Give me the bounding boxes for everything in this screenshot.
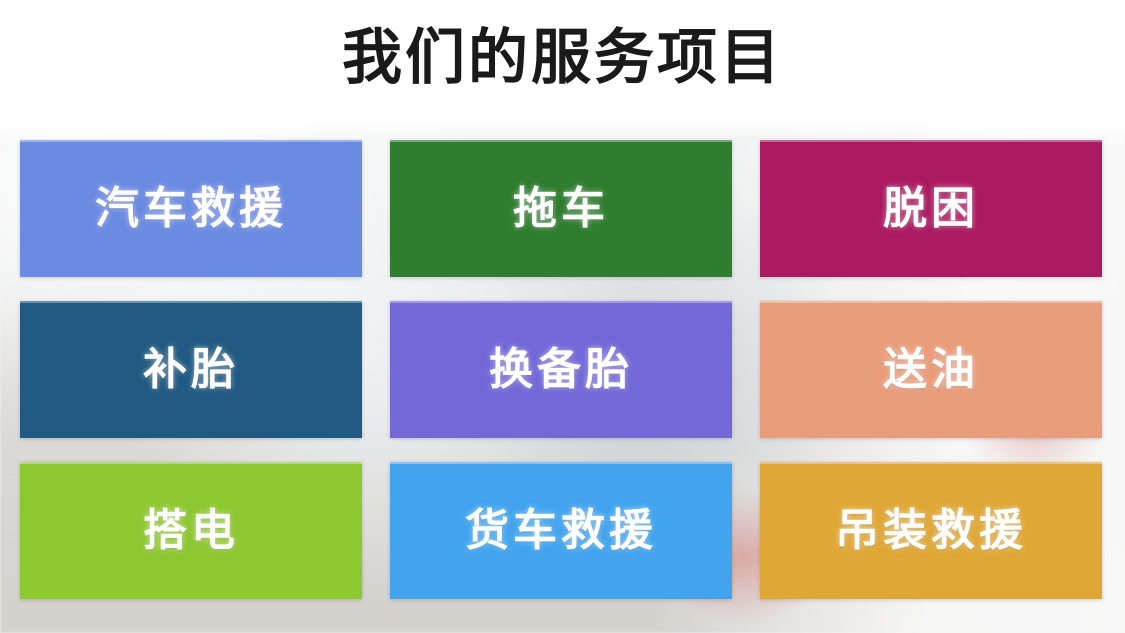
- service-tile[interactable]: 送油: [760, 301, 1102, 438]
- service-tile[interactable]: 拖车: [390, 140, 732, 277]
- service-tile-label: 换备胎: [489, 348, 633, 392]
- service-tile-label: 搭电: [143, 509, 239, 553]
- service-tile-label: 货车救援: [465, 509, 657, 553]
- service-tile-label: 补胎: [143, 348, 239, 392]
- service-menu-poster: 我们的服务项目 汽车救援拖车脱困补胎换备胎送油搭电货车救援吊装救援: [0, 0, 1125, 633]
- service-tile[interactable]: 换备胎: [390, 301, 732, 438]
- service-tile-label: 吊装救援: [835, 509, 1027, 553]
- page-title: 我们的服务项目: [342, 28, 783, 94]
- service-tile[interactable]: 汽车救援: [20, 140, 362, 277]
- service-tile-label: 送油: [883, 348, 979, 392]
- service-tile[interactable]: 搭电: [20, 462, 362, 599]
- service-tile-label: 拖车: [513, 187, 609, 231]
- service-tile-label: 脱困: [883, 187, 979, 231]
- service-tile-label: 汽车救援: [95, 187, 287, 231]
- title-band: 我们的服务项目: [0, 0, 1125, 122]
- service-tile[interactable]: 吊装救援: [760, 462, 1102, 599]
- service-tile[interactable]: 补胎: [20, 301, 362, 438]
- service-grid: 汽车救援拖车脱困补胎换备胎送油搭电货车救援吊装救援: [20, 140, 1105, 602]
- service-tile[interactable]: 脱困: [760, 140, 1102, 277]
- service-tile[interactable]: 货车救援: [390, 462, 732, 599]
